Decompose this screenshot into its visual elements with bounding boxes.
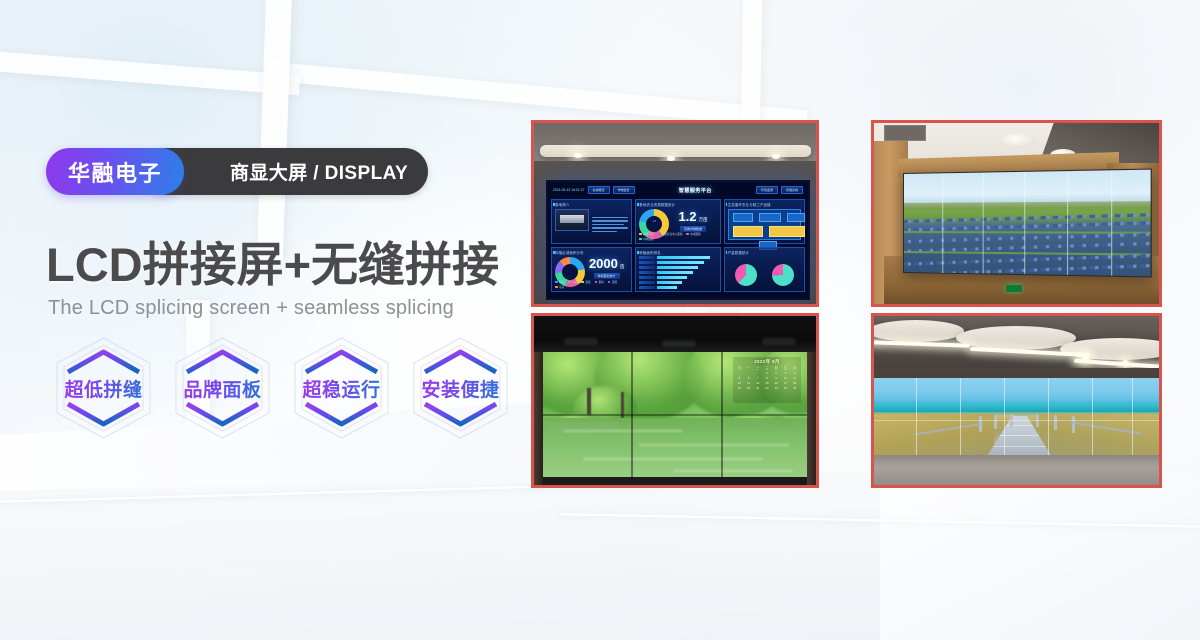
bar-row [639,266,716,269]
kpi-block: 2000亩 种植面积统计 [585,257,628,279]
pie-chart [735,264,757,286]
calendar-weekday-row: 日 一 二 三 四 五 六 [735,366,799,370]
exit-sign-icon [1006,285,1022,292]
photo-inner [874,316,1159,485]
legend-swatch [581,281,584,284]
calendar-day: 9 [772,376,781,380]
dashboard-panel-yield: 产量数据统计 [724,247,805,292]
railing-post [994,415,997,429]
calendar-day: 21 [753,386,762,390]
bar-label [639,276,655,279]
screen-bezel-seam [960,378,961,464]
dashboard-panel-grid: 基地简介 [551,199,805,292]
brand-badge: 华融电子 [46,148,184,195]
screen-bezel-seam [1111,170,1112,275]
text-line [592,227,629,229]
dashboard-header: 2021-09-13 16:01:27 系统概览 作物监管 智慧服务平台 环境监… [550,184,806,196]
bar-fill [657,281,682,284]
legend-item: 花卉 [555,285,564,289]
calendar-day: 24 [781,386,790,390]
bar-label [639,256,655,259]
panel-title: 基地简介 [555,202,569,207]
flow-node [759,213,781,222]
pie-chart-group [728,262,801,288]
water-reflection [673,470,793,472]
bezel-reflection [564,338,598,345]
solar-farm-image [904,170,1151,277]
bar-row [639,256,716,259]
panel-title: 生态循环农业与精工产品链 [728,202,771,207]
legend-item: 设施农业中心面积 [658,232,683,236]
calendar-day: 3 [781,371,790,375]
lcd-video-wall-screen: 2021-09-13 16:01:27 系统概览 作物监管 智慧服务平台 环境监… [546,180,810,300]
bar-row [639,271,716,274]
badge-group: 商显大屏 / DISPLAY 华融电子 [46,148,184,195]
calendar-day [744,371,753,375]
dashboard-nav-item[interactable]: 系统概览 [588,186,610,194]
panel-body: 2000亩 种植面积统计 [555,257,628,279]
calendar-day: 25 [790,386,799,390]
screen-bezel-seam [1048,378,1049,464]
curved-ceiling-panel [871,320,964,342]
legend-swatch [639,233,642,236]
calendar-day: 10 [781,376,790,380]
legend-label: 花卉 [559,285,564,289]
feature-list: 超低拼缝 品牌面板 超稳运行 [44,332,520,444]
willow-pond-image: 2021年 9月 日 一 二 三 四 五 六 [543,352,807,477]
feature-item-4: 安装便捷 [401,332,520,444]
category-badge: 商显大屏 / DISPLAY [142,148,428,195]
chart-legend: 种植面积 设施农业中心面积 水域面积 林地面积 [639,232,716,241]
donut-center-label: 1.2 [639,220,669,223]
legend-swatch [555,281,558,284]
bar-fill [657,276,687,279]
legend-label: 小麦 [572,280,577,284]
calendar-day-today: 11 [790,376,799,380]
screen-bezel-seam [1024,172,1025,274]
photo-inner [874,123,1159,304]
text-line [592,224,624,226]
panel-thumbnail [555,209,589,231]
text-line [592,220,629,222]
calendar-weekday: 二 [753,366,762,370]
feature-label: 品牌面板 [183,375,261,402]
kpi-block: 1.2万亩 查看详细数据 [669,209,716,233]
dashboard-timestamp: 2021-09-13 16:01:27 [553,188,585,192]
legend-swatch [639,238,642,241]
calendar-grid: 1 2 3 4 5 6 7 8 9 10 11 12 13 [735,371,799,390]
legend-label: 果树 [599,280,604,284]
chart-legend: 稻谷 小麦 蔬菜 果树 茶园 花卉 [555,280,628,289]
legend-label: 茶园 [612,280,617,284]
calendar-day: 23 [772,386,781,390]
screen-bezel-seam [1092,378,1093,464]
page-subtitle: The LCD splicing screen + seamless splic… [48,297,454,320]
calendar-weekday: 一 [744,366,753,370]
bar-row [639,281,716,284]
calendar-weekday: 五 [781,366,790,370]
legend-item: 种植面积 [639,232,653,236]
grass-strip [904,207,1151,212]
calendar-day: 17 [781,381,790,385]
kpi-value: 2000亩 [589,257,624,270]
calendar-day: 15 [763,381,772,385]
calendar-day: 4 [790,371,799,375]
ceiling-vent [884,125,926,141]
panel-text-lines [589,209,629,240]
calendar-day [735,371,744,375]
legend-swatch [568,281,571,284]
flow-diagram [728,209,801,240]
kpi-unit: 万亩 [699,217,708,222]
legend-item: 稻谷 [555,280,564,284]
screen-bezel-seam [543,414,807,416]
ceiling-downlight [1122,360,1129,367]
bar-label [639,271,655,274]
flow-node [733,213,753,222]
panel-title: 种植面积排名 [639,250,661,255]
headline-column: 商显大屏 / DISPLAY 华融电子 LCD拼接屏+无缝拼接 The LCD … [46,0,526,640]
promo-banner: 商显大屏 / DISPLAY 华融电子 LCD拼接屏+无缝拼接 The LCD … [0,0,1200,640]
bezel-reflection [762,338,796,345]
pond-water [543,418,807,477]
ceiling-dome-light [1002,133,1036,148]
dashboard-panel-resources: 基地农业资源数据统计 1.2 1.2万亩 查看详细数据 [635,199,720,244]
legend-swatch [595,281,598,284]
railing-post [1054,415,1057,430]
bar-row [639,276,716,279]
feature-label: 安装便捷 [421,375,499,402]
legend-item: 小麦 [568,280,577,284]
calendar-widget: 2021年 9月 日 一 二 三 四 五 六 [733,357,801,403]
bar-row [639,286,716,289]
dashboard-nav-item[interactable]: 环境监测 [756,186,778,194]
calendar-day: 8 [763,376,772,380]
screen-bezel-seam [942,173,943,272]
dashboard-panel-planting-area: 种植区域面积分布 2000亩 种植面积统计 稻谷 小麦 [551,247,632,292]
screen-bezel-seam [874,420,1159,421]
panel-title: 种植区域面积分布 [555,250,584,255]
photo-inner: 2021年 9月 日 一 二 三 四 五 六 [534,316,816,485]
photo-beach-boardwalk-wall [871,313,1162,488]
feature-label: 超稳运行 [302,375,380,402]
legend-label: 水域面积 [690,232,700,236]
calendar-title: 2021年 9月 [735,359,799,365]
feature-item-1: 超低拼缝 [44,332,163,444]
water-reflection [583,458,763,460]
calendar-day: 1 [763,371,772,375]
bar-chart [639,257,716,288]
lcd-video-wall-screen [903,169,1152,278]
calendar-day: 5 [735,376,744,380]
bar-fill [657,266,698,269]
panel-title: 产量数据统计 [728,250,750,255]
screen-bezel-seam [1132,378,1133,464]
dashboard-panel-flow: 生态循环农业与精工产品链 [724,199,805,244]
floor [874,455,1159,485]
calendar-day: 16 [772,381,781,385]
calendar-day: 18 [790,381,799,385]
legend-item: 茶园 [608,280,617,284]
bar-label [639,281,655,284]
dashboard-panel-intro: 基地简介 [551,199,632,244]
legend-label: 林地面积 [643,237,653,241]
bar-fill [657,271,693,274]
calendar-weekday: 日 [735,366,744,370]
calendar-day: 2 [772,371,781,375]
bar-fill [657,261,703,264]
kpi-value: 1.2万亩 [678,210,707,223]
ceiling-downlight [1082,354,1089,361]
kpi-number: 2000 [589,256,618,271]
dashboard-nav-item[interactable]: 作物监管 [613,186,635,194]
page-title: LCD拼接屏+无缝拼接 [46,226,499,295]
photo-willow-pond-wall: 2021年 9月 日 一 二 三 四 五 六 [531,313,819,488]
legend-item: 蔬菜 [581,280,590,284]
calendar-weekday: 三 [763,366,772,370]
calendar-weekday: 六 [790,366,799,370]
legend-swatch [658,233,661,236]
dashboard-panel-ranking: 种植面积排名 [635,247,720,292]
bar-label [639,266,655,269]
kpi-number: 1.2 [678,209,696,224]
bar-fill [657,286,677,289]
text-line [592,217,629,219]
calendar-day: 19 [735,386,744,390]
calendar-day: 6 [744,376,753,380]
calendar-day: 13 [744,381,753,385]
pie-chart [772,264,794,286]
calendar-day: 14 [753,381,762,385]
calendar-weekday: 四 [772,366,781,370]
dashboard-title: 智慧服务平台 [638,187,753,194]
solar-row [903,232,1152,244]
water-reflection [563,430,683,432]
dashboard-canvas: 2021-09-13 16:01:27 系统概览 作物监管 智慧服务平台 环境监… [548,182,808,298]
legend-item: 水域面积 [686,232,700,236]
kpi-button[interactable]: 种植面积统计 [594,273,620,279]
photo-dashboard-wall: 2021-09-13 16:01:27 系统概览 作物监管 智慧服务平台 环境监… [531,120,819,307]
feature-label: 超低拼缝 [64,375,142,402]
legend-label: 稻谷 [559,280,564,284]
panel-body [555,209,628,240]
legend-label: 设施农业中心面积 [662,232,683,236]
legend-swatch [686,233,689,236]
feature-item-2: 品牌面板 [163,332,282,444]
flow-node [769,226,805,237]
ceiling-spotlight [772,154,780,159]
text-line [592,231,618,233]
screen-bezel-seam [1067,171,1068,275]
flow-node [733,226,763,237]
badge-wrapper: 商显大屏 / DISPLAY 华融电子 [46,148,184,195]
calendar-day: 20 [744,386,753,390]
calendar-day: 7 [753,376,762,380]
lcd-video-wall-screen: 2021年 9月 日 一 二 三 四 五 六 [543,352,807,477]
railing-post [1072,416,1075,433]
bar-label [639,261,655,264]
panel-body: 1.2 1.2万亩 查看详细数据 [639,209,716,233]
panel-body [728,262,801,288]
bar-row [639,261,716,264]
kpi-unit: 亩 [620,264,625,269]
legend-swatch [555,286,558,289]
legend-swatch [608,281,611,284]
screen-bezel-seam [916,378,917,464]
bezel-reflection [662,340,696,347]
photo-solar-video-wall [871,120,1162,307]
dashboard-nav-item[interactable]: 管理系统 [781,186,803,194]
beach-boardwalk-image [874,378,1159,464]
legend-item: 林地面积 [639,237,653,241]
bar-label [639,286,655,289]
panel-body [639,257,716,288]
legend-label: 种植面积 [643,232,653,236]
legend-label: 蔬菜 [585,280,590,284]
calendar-day: 22 [763,386,772,390]
ceiling-spotlight [574,153,582,158]
feature-item-3: 超稳运行 [282,332,401,444]
photo-inner: 2021-09-13 16:01:27 系统概览 作物监管 智慧服务平台 环境监… [534,123,816,304]
flow-node [787,213,805,222]
water-reflection [639,444,789,446]
background-facet-lower-right [880,464,1200,640]
screen-bezel-seam [983,173,984,274]
calendar-day [753,371,762,375]
panel-title: 基地农业资源数据统计 [639,202,675,207]
screen-bezel-seam [1004,378,1005,464]
calendar-day: 12 [735,381,744,385]
lcd-video-wall-screen [874,378,1159,464]
solar-panel-rows [904,210,1151,276]
legend-item: 果树 [595,280,604,284]
bar-fill [657,256,710,259]
